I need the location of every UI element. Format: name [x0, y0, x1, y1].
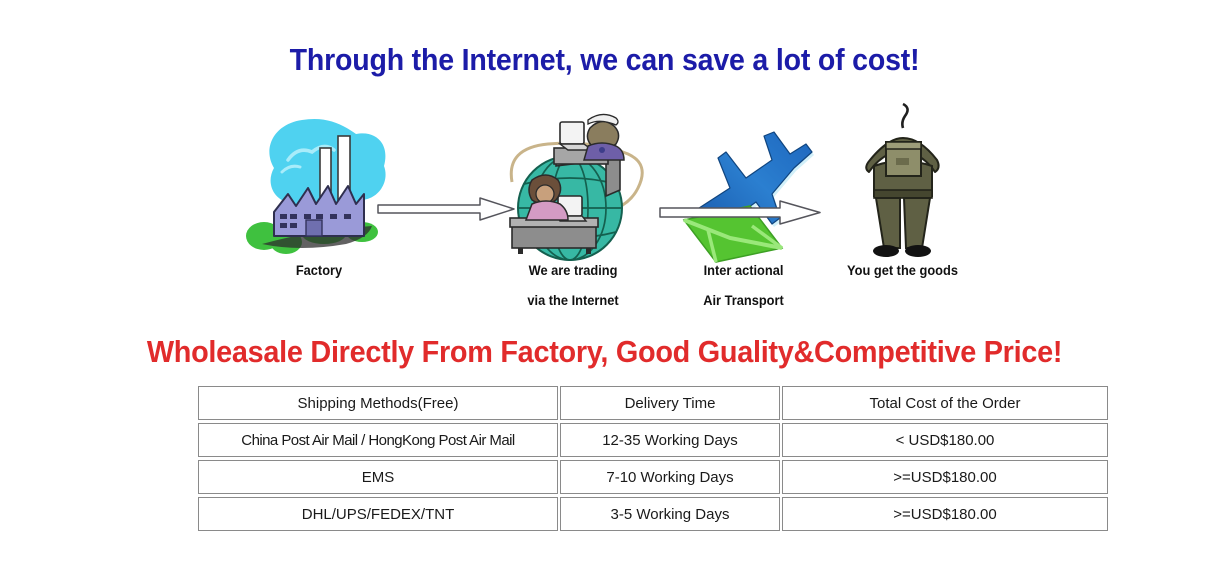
cell-method-1: China Post Air Mail / HongKong Post Air … [198, 423, 558, 457]
cell-cost-2: >=USD$180.00 [782, 460, 1108, 494]
cell-method-2: EMS [198, 460, 558, 494]
table-header-row: Shipping Methods(Free) Delivery Time Tot… [198, 386, 1108, 420]
cell-time-1: 12-35 Working Days [560, 423, 780, 457]
caption-transport-line2: Air Transport [670, 286, 817, 316]
promo-subtitle: Wholeasale Directly From Factory, Good G… [42, 334, 1166, 370]
table-header-total-cost: Total Cost of the Order [782, 386, 1108, 420]
table-header-delivery-time: Delivery Time [560, 386, 780, 420]
table-row: EMS 7-10 Working Days >=USD$180.00 [198, 460, 1108, 494]
factory-illustration [244, 108, 394, 258]
arrow-1-icon [376, 194, 516, 224]
caption-trading-line1: We are trading [492, 256, 654, 286]
caption-factory-line1: Factory [248, 256, 391, 286]
airplane-envelope-illustration [660, 118, 830, 268]
arrow-2-icon [658, 198, 823, 228]
caption-delivery: You get the goods [824, 256, 981, 286]
cell-method-3: DHL/UPS/FEDEX/TNT [198, 497, 558, 531]
table-header-shipping-methods: Shipping Methods(Free) [198, 386, 558, 420]
caption-transport-line1: Inter actional [670, 256, 817, 286]
table-row: China Post Air Mail / HongKong Post Air … [198, 423, 1108, 457]
caption-transport: Inter actional Air Transport [670, 256, 817, 316]
cell-cost-1: < USD$180.00 [782, 423, 1108, 457]
person-with-box-illustration [848, 102, 958, 262]
globe-computers-illustration [498, 104, 648, 264]
caption-trading-line2: via the Internet [492, 286, 654, 316]
page-title: Through the Internet, we can save a lot … [48, 42, 1160, 78]
table-row: DHL/UPS/FEDEX/TNT 3-5 Working Days >=USD… [198, 497, 1108, 531]
caption-factory: Factory [248, 256, 391, 286]
cell-time-2: 7-10 Working Days [560, 460, 780, 494]
shipping-table: Shipping Methods(Free) Delivery Time Tot… [196, 383, 1110, 534]
cell-cost-3: >=USD$180.00 [782, 497, 1108, 531]
caption-delivery-line1: You get the goods [824, 256, 981, 286]
process-flow-illustration: Factory We are trading via the Internet … [0, 100, 1209, 330]
promo-banner: Through the Internet, we can save a lot … [0, 0, 1209, 561]
caption-trading: We are trading via the Internet [492, 256, 654, 316]
cell-time-3: 3-5 Working Days [560, 497, 780, 531]
